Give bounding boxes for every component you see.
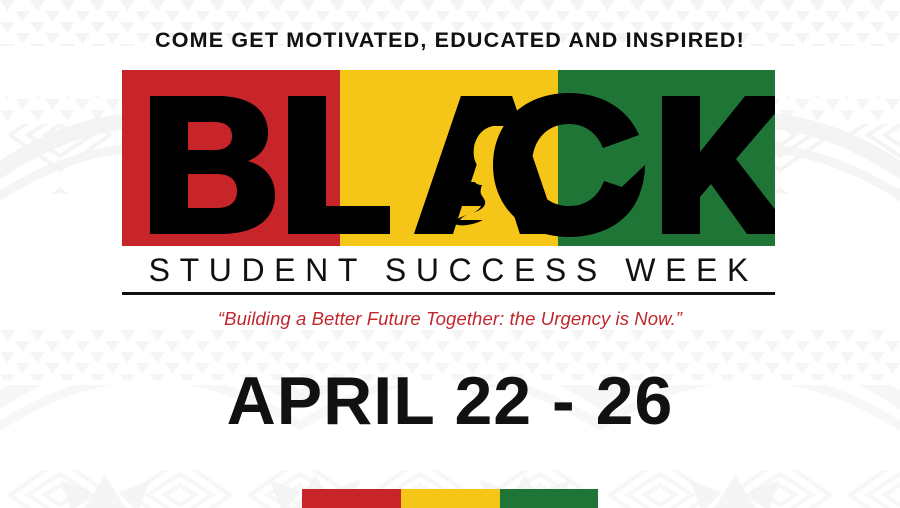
bottom-bar-yellow-block — [401, 489, 500, 508]
page-headline: COME GET MOTIVATED, EDUCATED AND INSPIRE… — [0, 28, 900, 53]
date-range: APRIL 22 - 26 — [0, 362, 900, 440]
flag-banner — [122, 70, 775, 246]
tagline-quote: “Building a Better Future Together: the … — [0, 308, 900, 330]
black-wordmark — [122, 70, 775, 246]
subtitle-student-success-week: STUDENT SUCCESS WEEK — [122, 252, 775, 289]
subtitle-divider-rule — [122, 292, 775, 295]
bottom-bar-red-block — [302, 489, 401, 508]
bottom-flag-bar — [302, 489, 598, 508]
bottom-bar-green-block — [500, 489, 598, 508]
black-student-success-week-poster: COME GET MOTIVATED, EDUCATED AND INSPIRE… — [0, 0, 900, 508]
